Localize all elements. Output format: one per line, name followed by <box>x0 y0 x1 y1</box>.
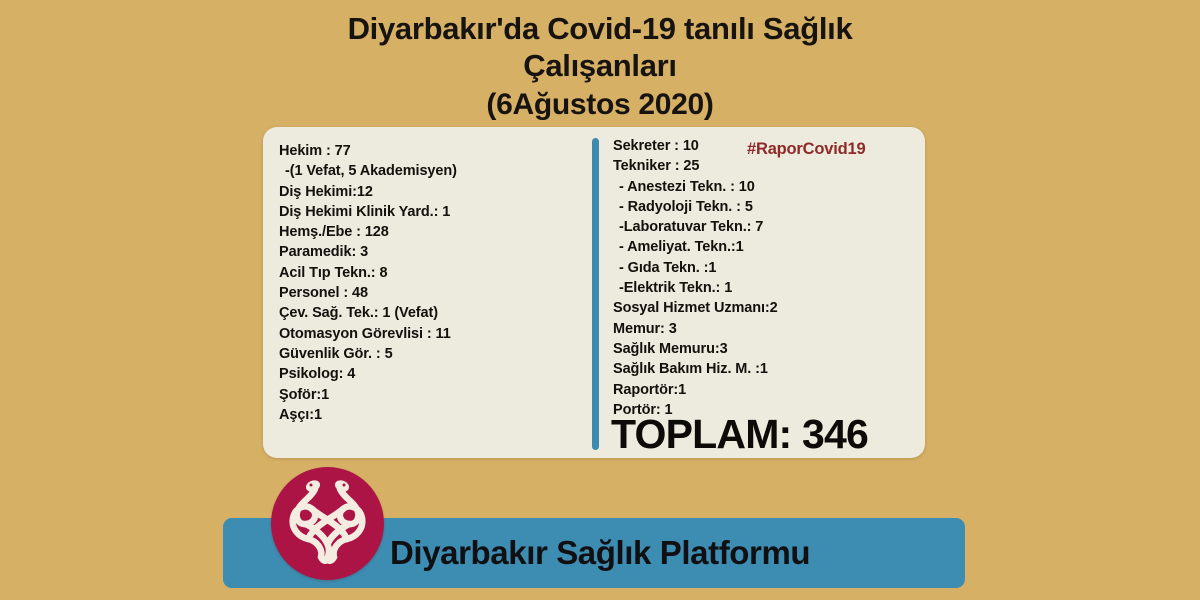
stat-line: Diş Hekimi Klinik Yard.: 1 <box>279 202 593 222</box>
stat-line: Paramedik: 3 <box>279 242 593 262</box>
stat-line: Acil Tıp Tekn.: 8 <box>279 263 593 283</box>
page-title: Diyarbakır'da Covid-19 tanılı Sağlık Çal… <box>0 10 1200 124</box>
stat-line: -Elektrik Tekn.: 1 <box>613 278 925 298</box>
stat-line: Sosyal Hizmet Uzmanı:2 <box>613 298 925 318</box>
stat-line: Şoför:1 <box>279 385 593 405</box>
stat-line: Psikolog: 4 <box>279 364 593 384</box>
stat-line: -Laboratuvar Tekn.: 7 <box>613 217 925 237</box>
intertwined-serpents-knot-logo <box>271 467 384 580</box>
title-line-2: Çalışanları <box>0 47 1200 84</box>
stat-line: - Gıda Tekn. :1 <box>613 258 925 278</box>
stat-line: Raportör:1 <box>613 380 925 400</box>
stats-column-left: Hekim : 77-(1 Vefat, 5 Akademisyen)Diş H… <box>263 127 593 458</box>
stat-line: Hemş./Ebe : 128 <box>279 222 593 242</box>
stat-line: Personel : 48 <box>279 283 593 303</box>
stat-line: Güvenlik Gör. : 5 <box>279 344 593 364</box>
stat-line: - Anestezi Tekn. : 10 <box>613 177 925 197</box>
total-label: TOPLAM: 346 <box>611 411 868 457</box>
stat-line: -(1 Vefat, 5 Akademisyen) <box>279 161 593 181</box>
stat-line: Tekniker : 25 <box>613 156 925 176</box>
stat-line: Memur: 3 <box>613 319 925 339</box>
stat-line: - Radyoloji Tekn. : 5 <box>613 197 925 217</box>
title-line-1: Diyarbakır'da Covid-19 tanılı Sağlık <box>0 10 1200 47</box>
organization-name: Diyarbakır Sağlık Platformu <box>390 528 950 578</box>
stat-line: Otomasyon Görevlisi : 11 <box>279 324 593 344</box>
stat-line: Diş Hekimi:12 <box>279 182 593 202</box>
stat-line: Aşçı:1 <box>279 405 593 425</box>
stat-line: Çev. Sağ. Tek.: 1 (Vefat) <box>279 303 593 323</box>
stat-line: Hekim : 77 <box>279 141 593 161</box>
stat-line: Sağlık Bakım Hiz. M. :1 <box>613 359 925 379</box>
stats-column-right: Sekreter : 10Tekniker : 25- Anestezi Tek… <box>593 127 925 458</box>
stat-line: Sağlık Memuru:3 <box>613 339 925 359</box>
hashtag-label: #RaporCovid19 <box>747 140 865 159</box>
statistics-card: Hekim : 77-(1 Vefat, 5 Akademisyen)Diş H… <box>263 127 925 458</box>
title-date: (6Ağustos 2020) <box>0 86 1200 124</box>
stat-line: - Ameliyat. Tekn.:1 <box>613 237 925 257</box>
